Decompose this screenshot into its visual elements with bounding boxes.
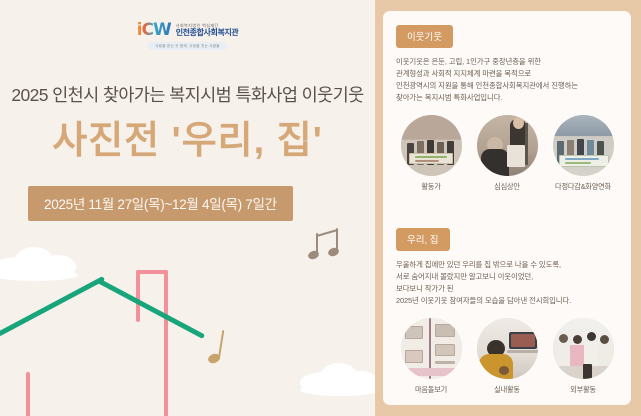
photo-caption: 활동가 (421, 182, 440, 192)
photo-row-2: 마음돌보기 실내 (396, 318, 618, 395)
section-body-1-line-2: 관계형성과 사회적 지지체계 마련을 목적으로 (396, 68, 618, 80)
section-body-1-line-4: 찾아가는 복지시범 특화사업입니다. (396, 92, 618, 104)
section-body-2-line-3: 보다보니 작가가 된 (396, 283, 618, 295)
section-tag-1: 이웃기웃 (396, 25, 453, 48)
photo-caption: 실내활동 (494, 385, 520, 395)
photo-row-1: 활동가 심심상안 (396, 115, 618, 192)
section-body-2-line-2: 서로 숨어지내 몰랐지만 알고보니 이웃이었던, (396, 271, 618, 283)
right-panel-frame: 이웃기웃 이웃기웃은 은둔, 고립, 1인가구 중장년층을 위한 관계형성과 사… (375, 0, 641, 416)
section-body-1-line-1: 이웃기웃은 은둔, 고립, 1인가구 중장년층을 위한 (396, 56, 618, 68)
poster-headline: 2025 인천시 찾아가는 복지시범 특화사업 이웃기웃 (0, 82, 375, 107)
info-card: 이웃기웃 이웃기웃은 은둔, 고립, 1인가구 중장년층을 위한 관계형성과 사… (383, 11, 631, 405)
left-panel: iCW 사회복지법인 백십재단 인천종합사회복지관 사랑을 받는 곳 함께, 사… (0, 0, 375, 416)
group-banner-photo[interactable] (401, 115, 462, 176)
group-indoor-photo[interactable] (553, 115, 614, 176)
photo-caption: 외부활동 (570, 385, 596, 395)
drawing-session-photo[interactable] (477, 115, 538, 176)
house-illustration (18, 266, 218, 416)
photo-item[interactable]: 심심상안 (472, 115, 542, 192)
standing-group-photo[interactable] (553, 318, 614, 379)
section-body-1: 이웃기웃은 은둔, 고립, 1인가구 중장년층을 위한 관계형성과 사회적 지지… (396, 56, 618, 104)
scrapbook-photo[interactable] (401, 318, 462, 379)
double-music-note-icon (310, 232, 344, 266)
section-body-2: 우울하게 집에만 있던 우리를 집 밖으로 나올 수 있도록, 서로 숨어지내 … (396, 259, 618, 307)
section-body-2-line-4: 2025년 이웃기웃 참여자들의 모습을 담아낸 전시회입니다. (396, 295, 618, 307)
tv-watching-photo[interactable] (477, 318, 538, 379)
section-spacer (396, 192, 618, 228)
logo-sub-line: 사랑을 받는 곳 함께, 사랑을 짓는 사람들 (148, 42, 227, 50)
logo-main-line: 인천종합사회복지관 (176, 29, 239, 37)
section-tag-2: 우리, 집 (396, 228, 450, 251)
photo-item[interactable]: 활동가 (396, 115, 466, 192)
section-urijip: 우리, 집 우울하게 집에만 있던 우리를 집 밖으로 나올 수 있도록, 서로… (396, 228, 618, 395)
photo-item[interactable]: 다정다감&화양연화 (548, 115, 618, 192)
single-music-note-icon (206, 330, 232, 366)
photo-item[interactable]: 마음돌보기 (396, 318, 466, 395)
poster-root: iCW 사회복지법인 백십재단 인천종합사회복지관 사랑을 받는 곳 함께, 사… (0, 0, 641, 416)
section-iutgiut: 이웃기웃 이웃기웃은 은둔, 고립, 1인가구 중장년층을 위한 관계형성과 사… (396, 25, 618, 192)
poster-title: 사진전 '우리, 집' (0, 118, 375, 166)
logo-mark: iCW (137, 22, 171, 39)
organization-logo: iCW 사회복지법인 백십재단 인천종합사회복지관 사랑을 받는 곳 함께, 사… (0, 22, 375, 50)
photo-caption: 심심상안 (494, 182, 520, 192)
section-body-1-line-3: 인천광역시의 지원을 통해 인천종합사회복지관에서 진행하는 (396, 80, 618, 92)
photo-caption: 다정다감&화양연화 (555, 182, 611, 192)
photo-item[interactable]: 실내활동 (472, 318, 542, 395)
photo-item[interactable]: 외부활동 (548, 318, 618, 395)
photo-caption: 마음돌보기 (415, 385, 447, 395)
cloud-bottom-right (300, 360, 375, 394)
date-banner: 2025년 11월 27일(목)~12월 4일(목) 7일간 (28, 186, 293, 221)
section-body-2-line-1: 우울하게 집에만 있던 우리를 집 밖으로 나올 수 있도록, (396, 259, 618, 271)
